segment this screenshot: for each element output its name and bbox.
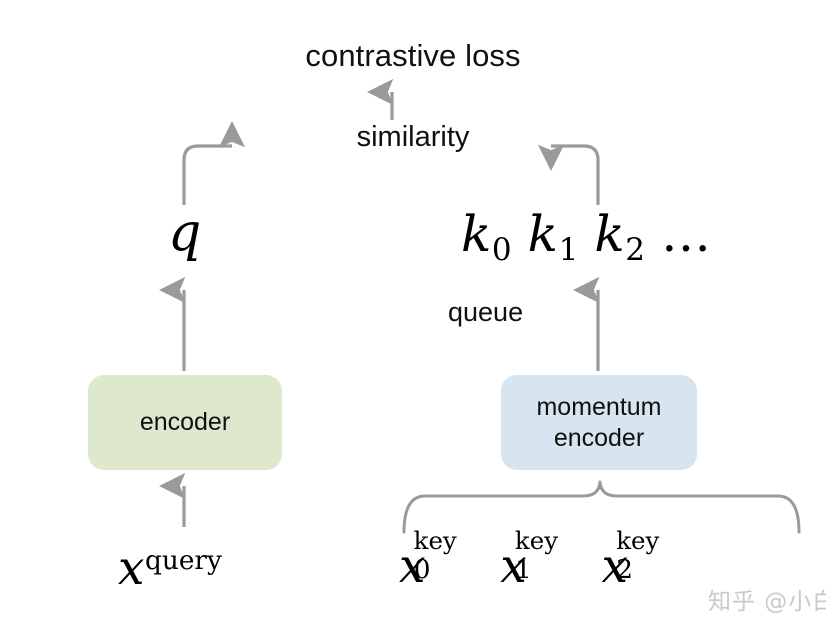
key-symbol-0: k0	[461, 205, 512, 263]
encoder-box[interactable]: encoder	[88, 375, 282, 470]
similarity-label: similarity	[0, 121, 826, 154]
queue-label: queue	[448, 297, 523, 328]
momentum-encoder-box[interactable]: momentum encoder	[501, 375, 697, 470]
query-representation-symbol: q	[168, 203, 201, 263]
x-key-inputs-row: x0keyx1keyx2key	[399, 539, 703, 594]
key-inputs-brace	[404, 482, 799, 532]
momentum-encoder-box-label: momentum encoder	[536, 392, 661, 454]
key-representations-row: k0k1k2…	[461, 205, 713, 268]
keys-ellipsis: …	[661, 205, 713, 263]
x-key-input-0: x0key	[399, 539, 484, 594]
x-key-input-1: x1key	[500, 539, 585, 594]
momentum-encoder-line-1: momentum	[536, 393, 661, 421]
key-symbol-2: k2	[594, 205, 645, 263]
encoder-box-label: encoder	[140, 407, 230, 438]
x-key-input-2: x2key	[602, 539, 687, 594]
key-symbol-1: k1	[528, 205, 579, 263]
diagram-canvas: contrastive loss similarity queue q k0k1…	[0, 0, 826, 634]
x-query-input-symbol: xquery	[118, 541, 222, 596]
zhihu-watermark: 知乎 @小白	[708, 582, 826, 616]
momentum-encoder-line-2: encoder	[554, 424, 644, 452]
arrow-q-to-similarity	[184, 146, 232, 205]
contrastive-loss-label: contrastive loss	[0, 38, 826, 74]
arrow-keys-to-similarity	[551, 146, 598, 205]
